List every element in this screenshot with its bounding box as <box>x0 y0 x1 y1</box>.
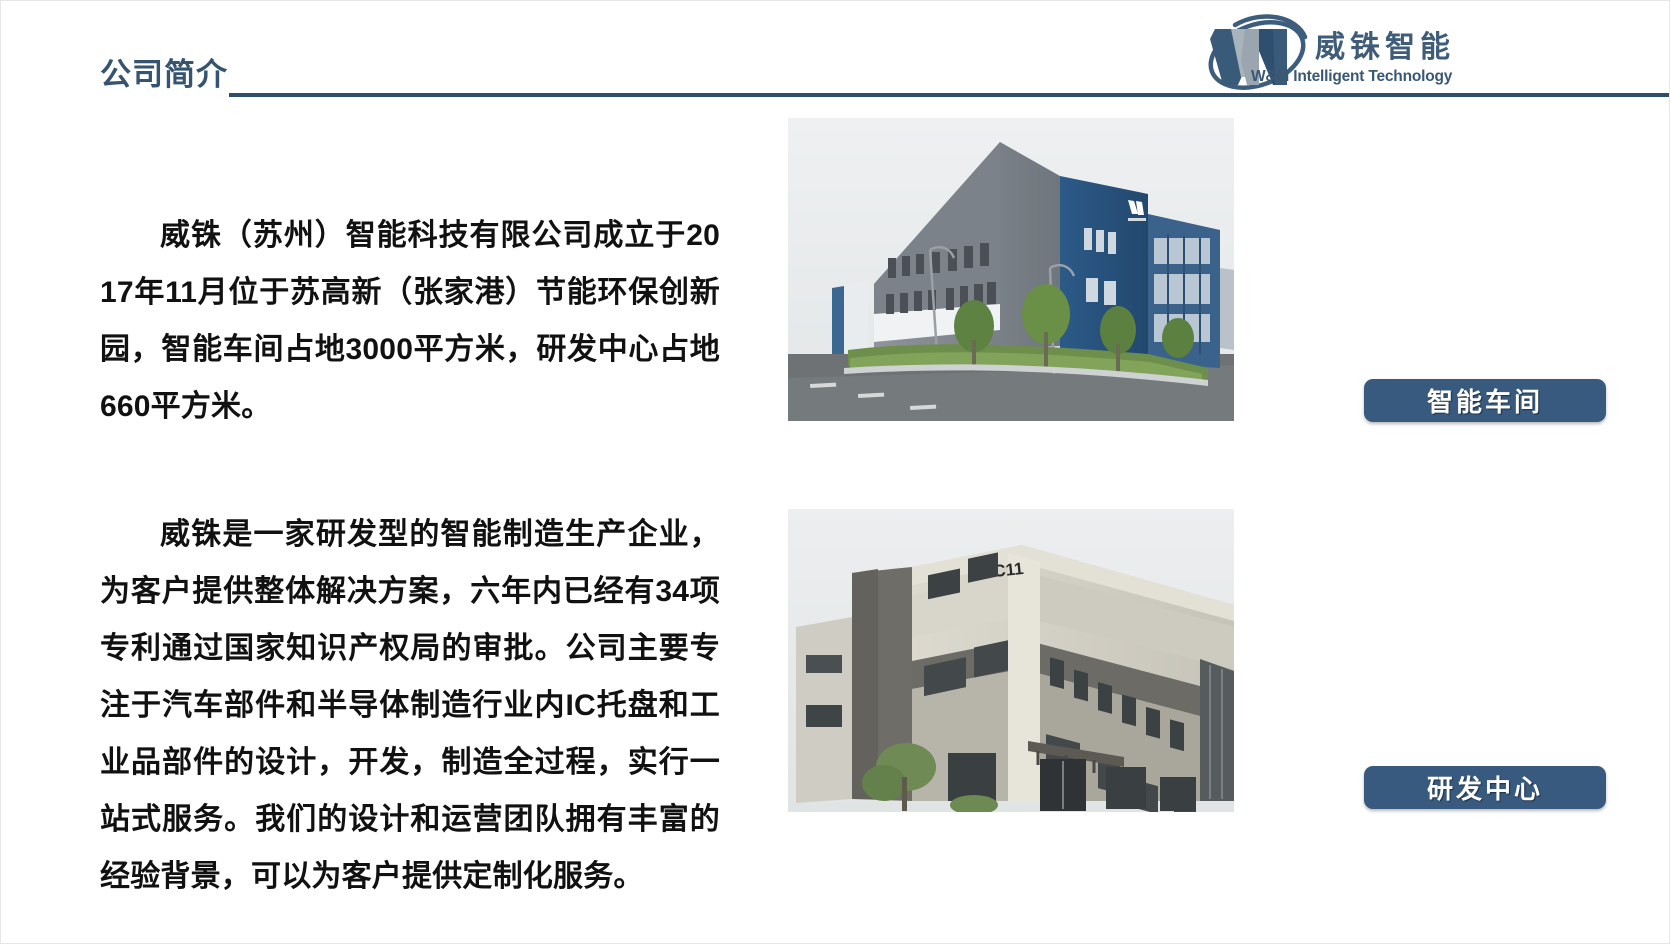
smart-workshop-photo <box>788 118 1234 421</box>
company-description: 威铢（苏州）智能科技有限公司成立于2017年11月位于苏高新（张家港）节能环保创… <box>100 177 720 935</box>
logo-text-block: 威铢智能 W&M Intelligent Technology <box>1315 31 1505 87</box>
rnd-center-photo: C11 <box>788 509 1234 812</box>
page-title: 公司简介 <box>100 49 228 94</box>
paragraph-1: 威铢（苏州）智能科技有限公司成立于2017年11月位于苏高新（张家港）节能环保创… <box>100 207 720 435</box>
smart-workshop-badge[interactable]: 智能车间 <box>1364 379 1606 422</box>
paragraph-2: 威铢是一家研发型的智能制造生产企业，为客户提供整体解决方案，六年内已经有34项专… <box>100 506 720 905</box>
logo-english-name: W&M Intelligent Technology <box>1251 67 1505 87</box>
company-profile-slide: 公司简介 威铢智能 <box>0 0 1670 944</box>
slide-header: 公司简介 威铢智能 <box>1 1 1670 113</box>
rnd-center-badge[interactable]: 研发中心 <box>1364 766 1606 809</box>
smart-workshop-badge-label: 智能车间 <box>1427 382 1543 419</box>
rnd-center-badge-label: 研发中心 <box>1427 769 1543 806</box>
company-logo: 威铢智能 W&M Intelligent Technology <box>1197 9 1497 105</box>
logo-chinese-name: 威铢智能 <box>1315 31 1505 65</box>
